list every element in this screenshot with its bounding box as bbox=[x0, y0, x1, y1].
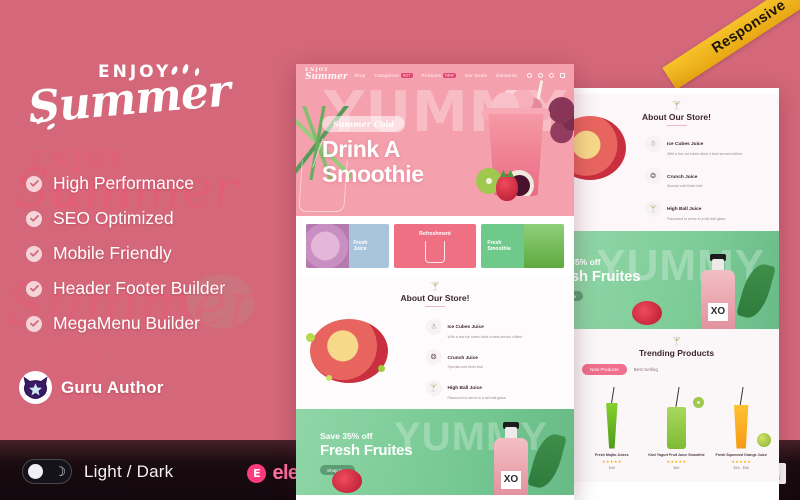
product-image bbox=[647, 385, 707, 449]
trending-product-grid: Fresh Mojito Juices ★★★★★ $48 Kiwi Yogur… bbox=[582, 385, 771, 470]
poster-root: ENJOY Summer Summer ENJOY Summer High Pe… bbox=[0, 0, 800, 500]
category-card-fresh-juice[interactable]: Fresh Juice bbox=[306, 224, 389, 268]
about-feature-title: High Ball Juice bbox=[667, 207, 701, 212]
strawberry-icon bbox=[632, 301, 662, 325]
straw-icon bbox=[675, 387, 680, 407]
about-store-image bbox=[306, 313, 420, 389]
mojito-glass-graphic bbox=[603, 403, 620, 449]
mockup-main-desktop[interactable]: YUMMY ENJOY Summer Shop CategoriesHOT Pr… bbox=[296, 64, 574, 500]
mockup-secondary-page[interactable]: 🍸 About Our Store! ☃ Ice Cubes Juice Wit… bbox=[574, 88, 779, 500]
check-circle-icon bbox=[26, 246, 42, 262]
hero-title: Drink A Smoothie bbox=[322, 137, 424, 187]
side-about-image bbox=[574, 116, 626, 180]
guru-author-label: Guru Author bbox=[61, 378, 164, 398]
feature-list: High Performance SEO Optimized Mobile Fr… bbox=[26, 166, 291, 341]
product-name: Kiwi Yogurt Fruit Juice Smoothie bbox=[647, 453, 707, 457]
promo-copy: Save 35% off Fresh Fruites Shop Now bbox=[320, 431, 412, 477]
feature-item: SEO Optimized bbox=[26, 201, 291, 236]
trending-tabs: New Products Best Selling bbox=[582, 364, 771, 375]
about-feature-item: 🍸 High Ball Juice Flavoured to serve in … bbox=[426, 376, 564, 400]
rating-stars-icon: ★★★★★ bbox=[647, 459, 707, 464]
promo-subtitle: Save 35% off bbox=[320, 431, 412, 441]
strawberry-icon bbox=[496, 174, 518, 201]
toggle-knob bbox=[28, 464, 43, 479]
feature-item: Mobile Friendly bbox=[26, 236, 291, 271]
nav-item-shop[interactable]: Shop bbox=[354, 73, 366, 78]
nav-item-our-deals[interactable]: Our Deals bbox=[465, 73, 487, 78]
mockup-nav-icons bbox=[527, 73, 565, 78]
category-title: Fresh Smoothie bbox=[481, 240, 511, 253]
side-about-feature-list: ☃ Ice Cubes Juice With a few ice tubes d… bbox=[645, 132, 770, 221]
crunch-icon: ❂ bbox=[645, 168, 661, 184]
feature-label: High Performance bbox=[53, 173, 194, 194]
product-name: Fresh Mojito Juices bbox=[582, 453, 642, 457]
about-store-section: 🍸 About Our Store! ☃ Ice Cubes Juice Wit… bbox=[296, 276, 574, 409]
nav-tag-new: NEW bbox=[443, 73, 456, 78]
cocktail-glass-icon: 🍸 bbox=[583, 102, 770, 110]
cocktail-glass-icon: 🍸 bbox=[582, 338, 771, 346]
about-feature-desc: With a few ice tubes drink a best served… bbox=[448, 335, 523, 339]
about-feature-item: 🍸 High Ball Juice Flavoured to serve in … bbox=[645, 197, 770, 221]
nav-tag-hot: HOT bbox=[401, 73, 413, 78]
tab-new-products[interactable]: New Products bbox=[582, 364, 627, 375]
theme-toggle-row[interactable]: ☽ Light / Dark bbox=[22, 459, 173, 484]
about-store-heading: About Our Store! bbox=[306, 293, 564, 303]
product-card[interactable]: Fresh Mojito Juices ★★★★★ $48 bbox=[582, 385, 642, 470]
trending-products-section: 🍸 Trending Products New Products Best Se… bbox=[574, 329, 779, 482]
promo-title: Fresh Fruites bbox=[574, 268, 640, 285]
mockup-hero: YUMMY ENJOY Summer Shop CategoriesHOT Pr… bbox=[296, 64, 574, 216]
highball-glass-icon: 🍸 bbox=[426, 380, 442, 396]
category-title: Refreshment bbox=[394, 231, 477, 238]
about-feature-item: ☃ Ice Cubes Juice With a few ice tubes d… bbox=[426, 315, 564, 339]
about-feature-desc: Special cold fresh kiwi bbox=[667, 184, 702, 188]
hero-badge: Summer Cold bbox=[322, 116, 405, 132]
smoothie-glass-graphic bbox=[667, 407, 686, 449]
trending-heading: Trending Products bbox=[582, 348, 771, 358]
bottle-neck bbox=[712, 259, 724, 271]
responsive-ribbon: Responsive bbox=[662, 0, 800, 90]
product-name: Fresh Squeezed Orange Juice bbox=[711, 453, 771, 457]
about-feature-title: Crunch Juice bbox=[667, 175, 697, 180]
promo-title: Fresh Fruites bbox=[320, 442, 412, 459]
wishlist-icon[interactable] bbox=[549, 73, 554, 78]
juice-splash-graphic bbox=[310, 319, 388, 383]
about-feature-item: ❂ Crunch Juice Special cold fresh kiwi bbox=[426, 346, 564, 370]
mockup-nav: Shop CategoriesHOT ProductsNEW Our Deals… bbox=[354, 73, 517, 78]
check-circle-icon bbox=[26, 316, 42, 332]
strawberry-icon bbox=[332, 469, 362, 493]
nav-item-categories[interactable]: CategoriesHOT bbox=[375, 73, 413, 78]
about-feature-title: Crunch Juice bbox=[448, 356, 478, 361]
brand-logo-main: Summer bbox=[26, 65, 232, 133]
kiwi-slice-icon bbox=[693, 397, 704, 408]
search-icon[interactable] bbox=[527, 73, 532, 78]
feature-item: High Performance bbox=[26, 166, 291, 201]
rating-stars-icon: ★★★★★ bbox=[582, 459, 642, 464]
nav-item-elements[interactable]: Elements bbox=[496, 73, 517, 78]
mockup-topbar: ENJOY Summer Shop CategoriesHOT Products… bbox=[296, 64, 574, 86]
feature-label: MegaMenu Builder bbox=[53, 313, 200, 334]
cat-star-icon bbox=[19, 371, 52, 404]
product-image bbox=[582, 385, 642, 449]
about-feature-item: ☃ Ice Cubes Juice With a few ice tubes d… bbox=[645, 132, 770, 156]
category-card-refreshment[interactable]: Refreshment bbox=[394, 224, 477, 268]
check-circle-icon bbox=[26, 211, 42, 227]
product-price: $54 - $88 bbox=[711, 466, 771, 470]
juice-bottle-image: XO bbox=[701, 259, 735, 329]
hero-copy: Summer Cold Drink A Smoothie bbox=[322, 114, 424, 187]
nav-item-products[interactable]: ProductsNEW bbox=[422, 73, 456, 78]
splash-dot bbox=[306, 333, 315, 342]
rating-stars-icon: ★★★★★ bbox=[711, 459, 771, 464]
guru-author-badge: Guru Author bbox=[19, 371, 164, 404]
about-feature-item: ❂ Crunch Juice Special cold fresh kiwi bbox=[645, 165, 770, 189]
feature-label: SEO Optimized bbox=[53, 208, 174, 229]
hero-title-line2: Smoothie bbox=[322, 162, 424, 187]
splash-dot bbox=[378, 365, 385, 372]
side-mockup-footer bbox=[574, 482, 779, 500]
juice-bottle-image: XO bbox=[494, 427, 528, 495]
tab-best-selling[interactable]: Best Selling bbox=[634, 367, 658, 372]
about-store-body: ☃ Ice Cubes Juice With a few ice tubes d… bbox=[306, 313, 564, 400]
bottle-neck bbox=[505, 427, 517, 439]
feature-item: MegaMenu Builder bbox=[26, 306, 291, 341]
feature-label: Header Footer Builder bbox=[53, 278, 225, 299]
splash-dot bbox=[326, 375, 332, 381]
about-feature-desc: Flavoured to serve in a tall ball glass bbox=[448, 396, 506, 400]
category-thumb bbox=[524, 224, 564, 268]
light-dark-toggle[interactable]: ☽ bbox=[22, 459, 72, 484]
orange-fruit-icon bbox=[757, 433, 771, 447]
side-promo-banner: YUMMY Save 35% off Fresh Fruites Shop No… bbox=[574, 231, 779, 329]
about-feature-title: Ice Cubes Juice bbox=[667, 142, 703, 147]
bottle-label: XO bbox=[708, 303, 728, 321]
category-thumb bbox=[425, 241, 445, 263]
highball-glass-icon: 🍸 bbox=[645, 201, 661, 217]
elementor-icon: E bbox=[247, 464, 266, 483]
mockup-brand-logo: ENJOY Summer bbox=[305, 68, 348, 82]
left-panel: ENJOY Summer High Performance SEO Optimi… bbox=[0, 0, 300, 500]
bottle-label: XO bbox=[501, 471, 521, 489]
category-thumb bbox=[306, 224, 349, 268]
product-image bbox=[711, 385, 771, 449]
crunch-icon: ❂ bbox=[426, 349, 442, 365]
promo-banner: YUMMY Save 35% off Fresh Fruites Shop No… bbox=[296, 409, 574, 495]
side-about-store-section: 🍸 About Our Store! ☃ Ice Cubes Juice Wit… bbox=[574, 94, 779, 231]
product-price: $48 bbox=[582, 466, 642, 470]
heading-divider bbox=[667, 125, 687, 126]
promo-subtitle: Save 35% off bbox=[574, 257, 640, 267]
about-feature-title: High Ball Juice bbox=[448, 386, 482, 391]
promo-shop-now-button[interactable]: Shop Now bbox=[574, 291, 583, 301]
about-feature-desc: Special cold fresh kiwi bbox=[448, 365, 483, 369]
promo-copy: Save 35% off Fresh Fruites Shop Now bbox=[574, 257, 640, 303]
feature-item: Header Footer Builder bbox=[26, 271, 291, 306]
theme-toggle-label: Light / Dark bbox=[84, 462, 173, 482]
feature-label: Mobile Friendly bbox=[53, 243, 172, 264]
check-circle-icon bbox=[26, 176, 42, 192]
cocktail-glass-icon: 🍸 bbox=[306, 283, 564, 291]
orange-juice-glass-graphic bbox=[732, 405, 750, 449]
about-store-feature-list: ☃ Ice Cubes Juice With a few ice tubes d… bbox=[426, 313, 564, 400]
category-cards: Fresh Juice Refreshment Fresh Smoothie bbox=[296, 216, 574, 276]
heading-divider bbox=[425, 306, 445, 307]
check-circle-icon bbox=[26, 281, 42, 297]
hero-title-line1: Drink A bbox=[322, 137, 424, 162]
moon-icon: ☽ bbox=[54, 465, 66, 478]
about-feature-desc: Flavoured to serve in a tall ball glass bbox=[667, 217, 725, 221]
responsive-ribbon-label: Responsive bbox=[709, 0, 789, 57]
category-card-fresh-smoothie[interactable]: Fresh Smoothie bbox=[481, 224, 564, 268]
about-feature-desc: With a few ice tubes drink a best served… bbox=[667, 152, 742, 156]
product-card[interactable]: Fresh Squeezed Orange Juice ★★★★★ $54 - … bbox=[711, 385, 771, 470]
product-price: $64 bbox=[647, 466, 707, 470]
side-about-heading: About Our Store! bbox=[583, 112, 770, 122]
account-icon[interactable] bbox=[538, 73, 543, 78]
about-feature-title: Ice Cubes Juice bbox=[448, 325, 484, 330]
grape-decor-icon bbox=[548, 94, 574, 148]
straw-icon bbox=[740, 387, 745, 407]
ice-cube-icon: ☃ bbox=[426, 319, 442, 335]
smoothie-cup-image bbox=[482, 88, 550, 196]
mockup-brand-logo-main: Summer bbox=[305, 72, 348, 82]
category-title: Fresh Juice bbox=[347, 240, 367, 253]
cart-icon[interactable] bbox=[560, 73, 565, 78]
brand-logo: ENJOY Summer bbox=[26, 62, 216, 134]
ice-cube-icon: ☃ bbox=[645, 136, 661, 152]
product-card[interactable]: Kiwi Yogurt Fruit Juice Smoothie ★★★★★ $… bbox=[647, 385, 707, 470]
